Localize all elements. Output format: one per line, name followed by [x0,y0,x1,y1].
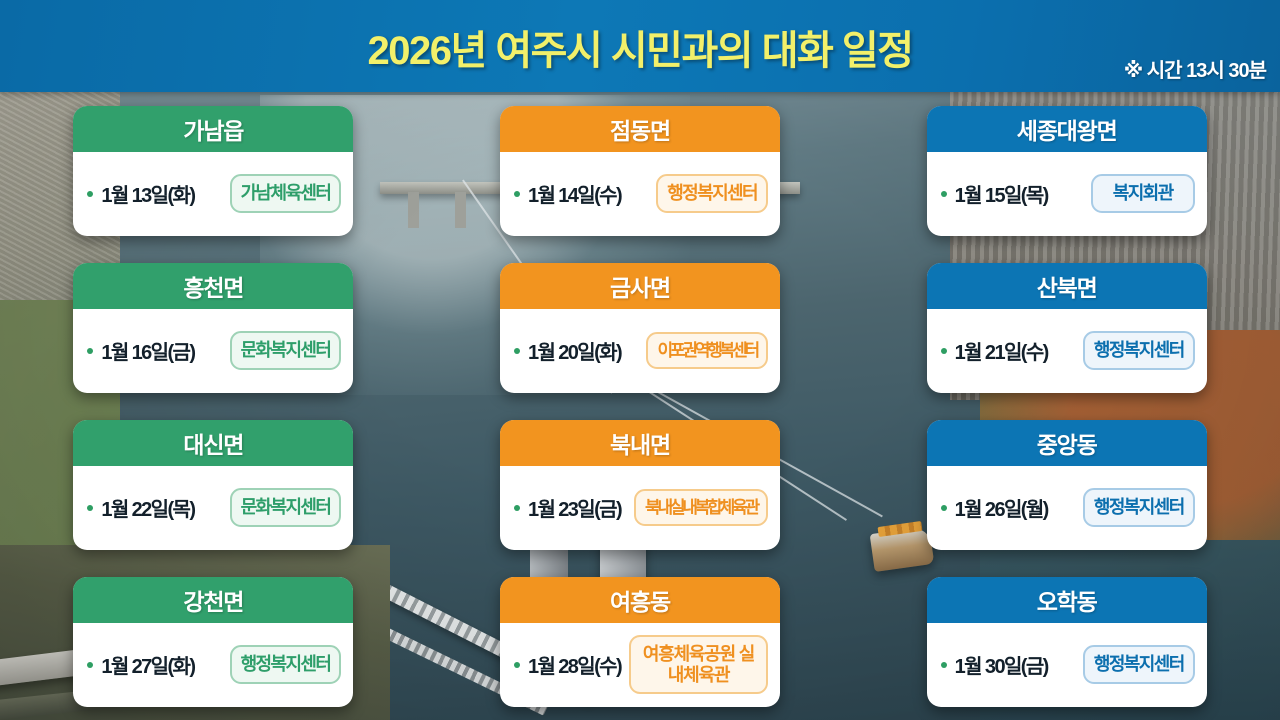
grid-cell: 여흥동 1월 28일(수) 여흥체육공원 실내체육관 [427,563,854,720]
card-date: 1월 14일(수) [528,179,621,208]
bullet-dot-icon [941,348,947,354]
page-title: 2026년 여주시 시민과의 대화 일정 [0,18,1280,76]
poster-stage: 2026년 여주시 시민과의 대화 일정 ※ 시간 13시 30분 가남읍 1월… [0,0,1280,720]
bullet-dot-icon [87,662,93,668]
schedule-card-yeoheung-dong[interactable]: 여흥동 1월 28일(수) 여흥체육공원 실내체육관 [500,577,780,707]
card-body: 1월 15일(목) 복지회관 [927,152,1207,236]
card-body: 1월 16일(금) 문화복지센터 [73,309,353,393]
card-venue-pill[interactable]: 행정복지센터 [1083,488,1195,526]
card-region-title: 금사면 [500,263,780,309]
schedule-card-daesin-myeon[interactable]: 대신면 1월 22일(목) 문화복지센터 [73,420,353,550]
grid-cell: 세종대왕면 1월 15일(목) 복지회관 [853,92,1280,249]
card-body: 1월 21일(수) 행정복지센터 [927,309,1207,393]
bullet-dot-icon [941,505,947,511]
schedule-card-buknae-myeon[interactable]: 북내면 1월 23일(금) 북내실내복합체육관 [500,420,780,550]
card-venue-pill[interactable]: 여흥체육공원 실내체육관 [629,635,768,693]
card-region-title: 북내면 [500,420,780,466]
card-venue-pill[interactable]: 이포권역행복센터 [646,332,768,369]
card-date: 1월 20일(화) [528,336,621,365]
card-venue-pill[interactable]: 행정복지센터 [230,645,342,683]
card-date: 1월 27일(화) [101,650,194,679]
bullet-dot-icon [514,662,520,668]
schedule-card-jungang-dong[interactable]: 중앙동 1월 26일(월) 행정복지센터 [927,420,1207,550]
schedule-card-heungcheon-myeon[interactable]: 흥천면 1월 16일(금) 문화복지센터 [73,263,353,393]
schedule-card-ganam-eup[interactable]: 가남읍 1월 13일(화) 가남체육센터 [73,106,353,236]
card-region-title: 흥천면 [73,263,353,309]
bullet-dot-icon [941,191,947,197]
card-venue-pill[interactable]: 행정복지센터 [1083,331,1195,369]
grid-cell: 강천면 1월 27일(화) 행정복지센터 [0,563,427,720]
card-venue-pill[interactable]: 행정복지센터 [1083,645,1195,683]
grid-cell: 흥천면 1월 16일(금) 문화복지센터 [0,249,427,406]
card-body: 1월 26일(월) 행정복지센터 [927,466,1207,550]
card-body: 1월 30일(금) 행정복지센터 [927,623,1207,707]
card-date: 1월 13일(화) [101,179,194,208]
grid-cell: 오학동 1월 30일(금) 행정복지센터 [853,563,1280,720]
card-date: 1월 16일(금) [101,336,194,365]
card-body: 1월 22일(목) 문화복지센터 [73,466,353,550]
bullet-dot-icon [514,191,520,197]
time-note-label: ※ 시간 13시 30분 [1124,54,1266,83]
grid-cell: 산북면 1월 21일(수) 행정복지센터 [853,249,1280,406]
card-venue-pill[interactable]: 문화복지센터 [230,488,342,526]
schedule-card-jeomdong-myeon[interactable]: 점동면 1월 14일(수) 행정복지센터 [500,106,780,236]
card-date: 1월 30일(금) [955,650,1048,679]
card-venue-pill[interactable]: 행정복지센터 [656,174,768,212]
card-region-title: 여흥동 [500,577,780,623]
card-body: 1월 13일(화) 가남체육센터 [73,152,353,236]
card-body: 1월 27일(화) 행정복지센터 [73,623,353,707]
card-region-title: 산북면 [927,263,1207,309]
card-region-title: 세종대왕면 [927,106,1207,152]
card-date: 1월 26일(월) [955,493,1048,522]
bullet-dot-icon [941,662,947,668]
card-date: 1월 28일(수) [528,650,621,679]
bullet-dot-icon [87,505,93,511]
bullet-dot-icon [87,191,93,197]
bullet-dot-icon [514,348,520,354]
grid-cell: 점동면 1월 14일(수) 행정복지센터 [427,92,854,249]
card-date: 1월 21일(수) [955,336,1048,365]
card-venue-pill[interactable]: 가남체육센터 [230,174,342,212]
card-body: 1월 14일(수) 행정복지센터 [500,152,780,236]
grid-cell: 가남읍 1월 13일(화) 가남체육센터 [0,92,427,249]
card-body: 1월 20일(화) 이포권역행복센터 [500,309,780,393]
card-body: 1월 28일(수) 여흥체육공원 실내체육관 [500,623,780,707]
schedule-card-gangcheon-myeon[interactable]: 강천면 1월 27일(화) 행정복지센터 [73,577,353,707]
schedule-card-sanbuk-myeon[interactable]: 산북면 1월 21일(수) 행정복지센터 [927,263,1207,393]
card-region-title: 중앙동 [927,420,1207,466]
grid-cell: 금사면 1월 20일(화) 이포권역행복센터 [427,249,854,406]
card-date: 1월 22일(목) [101,493,194,522]
bullet-dot-icon [514,505,520,511]
card-region-title: 점동면 [500,106,780,152]
card-body: 1월 23일(금) 북내실내복합체육관 [500,466,780,550]
header-bar: 2026년 여주시 시민과의 대화 일정 ※ 시간 13시 30분 [0,0,1280,92]
schedule-card-ohak-dong[interactable]: 오학동 1월 30일(금) 행정복지센터 [927,577,1207,707]
grid-cell: 중앙동 1월 26일(월) 행정복지센터 [853,406,1280,563]
grid-cell: 북내면 1월 23일(금) 북내실내복합체육관 [427,406,854,563]
card-region-title: 오학동 [927,577,1207,623]
bullet-dot-icon [87,348,93,354]
card-date: 1월 15일(목) [955,179,1048,208]
schedule-grid: 가남읍 1월 13일(화) 가남체육센터 점동면 1월 14일(수) 행정복지센… [0,92,1280,720]
card-venue-pill[interactable]: 북내실내복합체육관 [634,489,768,526]
card-region-title: 가남읍 [73,106,353,152]
card-date: 1월 23일(금) [528,493,621,522]
card-venue-pill[interactable]: 복지회관 [1091,174,1195,212]
card-region-title: 강천면 [73,577,353,623]
card-region-title: 대신면 [73,420,353,466]
grid-cell: 대신면 1월 22일(목) 문화복지센터 [0,406,427,563]
schedule-card-sejongdaewang-myeon[interactable]: 세종대왕면 1월 15일(목) 복지회관 [927,106,1207,236]
schedule-card-geumsa-myeon[interactable]: 금사면 1월 20일(화) 이포권역행복센터 [500,263,780,393]
card-venue-pill[interactable]: 문화복지센터 [230,331,342,369]
